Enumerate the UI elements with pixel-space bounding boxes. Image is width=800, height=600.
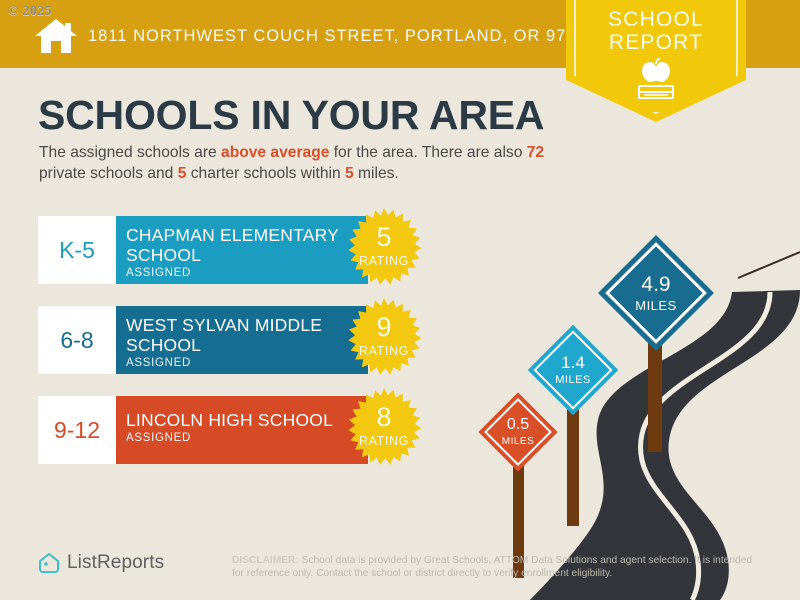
sign-unit: MILES bbox=[555, 375, 591, 386]
subtitle-highlight-radius: 5 bbox=[345, 165, 354, 182]
rating-badge: 9 RATING bbox=[340, 296, 428, 384]
sign-text-group: 1.4 MILES bbox=[541, 338, 605, 402]
copyright-watermark: © 2025 bbox=[8, 4, 52, 20]
school-row[interactable]: 6-8 WEST SYLVAN MIDDLE SCHOOL ASSIGNED 9… bbox=[38, 306, 368, 374]
sign-text-group: 0.5 MILES bbox=[490, 404, 546, 460]
school-name: WEST SYLVAN MIDDLE SCHOOL bbox=[126, 315, 368, 355]
badge-title-line2: REPORT bbox=[566, 31, 746, 54]
rating-badge: 5 RATING bbox=[340, 206, 428, 294]
school-list: K-5 CHAPMAN ELEMENTARY SCHOOL ASSIGNED 5… bbox=[38, 216, 458, 486]
school-report-badge: SCHOOL REPORT bbox=[566, 0, 746, 122]
infographic-canvas: 4.9 MILES 1.4 MILES 0.5 MILES bbox=[0, 0, 800, 600]
sign-unit: MILES bbox=[635, 299, 677, 312]
rating-value: 8 bbox=[340, 402, 428, 433]
rating-label: RATING bbox=[340, 434, 428, 448]
disclaimer-label: DISCLAIMER: bbox=[232, 555, 299, 566]
school-row[interactable]: K-5 CHAPMAN ELEMENTARY SCHOOL ASSIGNED 5… bbox=[38, 216, 368, 284]
subtitle-part-2: for the area. There are also bbox=[329, 144, 526, 161]
rating-value: 9 bbox=[340, 312, 428, 343]
school-row[interactable]: 9-12 LINCOLN HIGH SCHOOL ASSIGNED 8 RATI… bbox=[38, 396, 368, 464]
road-scene: 4.9 MILES 1.4 MILES 0.5 MILES bbox=[470, 230, 800, 600]
sign-value: 0.5 bbox=[507, 417, 529, 433]
school-name: LINCOLN HIGH SCHOOL bbox=[126, 410, 368, 430]
apple-on-books-icon bbox=[628, 58, 684, 102]
logo-text: ListReports bbox=[67, 552, 164, 574]
school-bar: WEST SYLVAN MIDDLE SCHOOL ASSIGNED bbox=[116, 306, 368, 374]
rating-label: RATING bbox=[340, 344, 428, 358]
school-name: CHAPMAN ELEMENTARY SCHOOL bbox=[126, 225, 368, 265]
grade-range: 6-8 bbox=[38, 306, 116, 374]
school-bar: CHAPMAN ELEMENTARY SCHOOL ASSIGNED bbox=[116, 216, 368, 284]
sign-value: 4.9 bbox=[641, 274, 670, 295]
disclaimer-body: School data is provided by Great Schools… bbox=[232, 555, 752, 579]
sign-text-group: 4.9 MILES bbox=[615, 252, 697, 334]
subtitle-highlight-private-count: 72 bbox=[527, 144, 544, 161]
wire-line bbox=[738, 252, 800, 278]
badge-title-line1: SCHOOL bbox=[566, 8, 746, 31]
subtitle-part-5: miles. bbox=[354, 165, 399, 182]
grade-range: 9-12 bbox=[38, 396, 116, 464]
house-tag-icon bbox=[38, 552, 60, 574]
page-subtitle: The assigned schools are above average f… bbox=[39, 142, 569, 184]
rating-badge: 8 RATING bbox=[340, 386, 428, 474]
sign-value: 1.4 bbox=[561, 354, 585, 371]
school-status: ASSIGNED bbox=[126, 432, 368, 444]
school-status: ASSIGNED bbox=[126, 357, 368, 369]
school-bar: LINCOLN HIGH SCHOOL ASSIGNED bbox=[116, 396, 368, 464]
sign-unit: MILES bbox=[502, 437, 535, 447]
disclaimer-text: DISCLAIMER: School data is provided by G… bbox=[232, 554, 752, 580]
subtitle-part-1: The assigned schools are bbox=[39, 144, 221, 161]
listreports-logo[interactable]: ListReports bbox=[38, 552, 164, 574]
grade-range: K-5 bbox=[38, 216, 116, 284]
sign-post bbox=[567, 396, 579, 526]
property-address: 1811 NORTHWEST COUCH STREET, PORTLAND, O… bbox=[88, 27, 597, 46]
rating-value: 5 bbox=[340, 222, 428, 253]
school-status: ASSIGNED bbox=[126, 267, 368, 279]
house-icon bbox=[34, 18, 78, 54]
rating-label: RATING bbox=[340, 254, 428, 268]
subtitle-part-4: charter schools within bbox=[186, 165, 345, 182]
badge-title: SCHOOL REPORT bbox=[566, 8, 746, 54]
page-title: SCHOOLS IN YOUR AREA bbox=[38, 92, 544, 139]
subtitle-part-3: private schools and bbox=[39, 165, 178, 182]
subtitle-highlight-rating: above average bbox=[221, 144, 329, 161]
